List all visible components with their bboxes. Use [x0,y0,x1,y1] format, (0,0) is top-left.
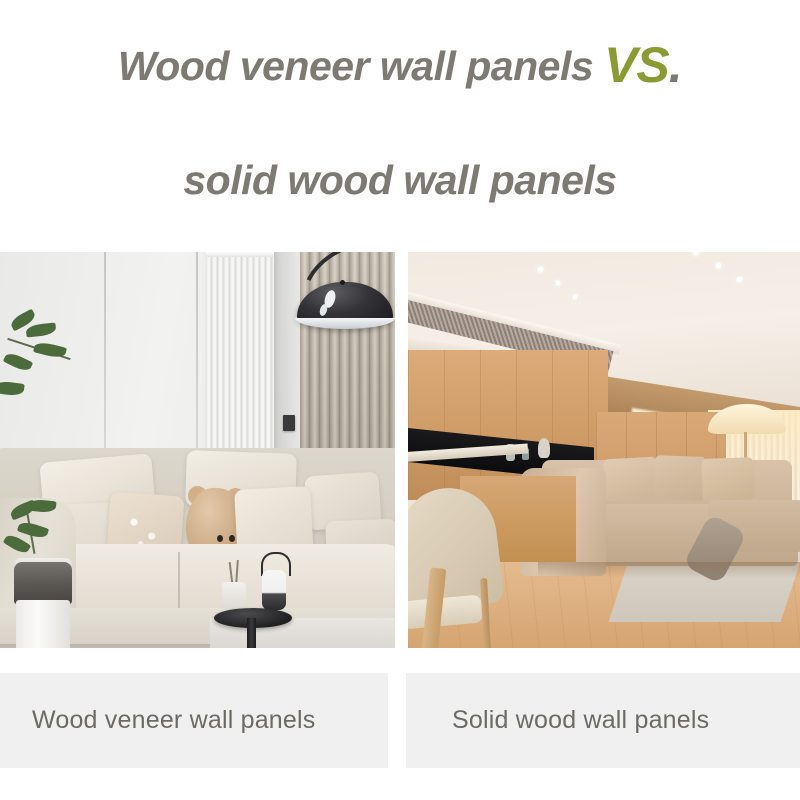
caption-row: Wood veneer wall panels Solid wood wall … [0,673,800,768]
fluted-panel-cap [206,252,274,257]
ceiling-downlight [536,266,545,273]
vs-punctuation: . [669,37,682,93]
photo-wood-veneer [0,252,395,648]
title-line-2-text: solid wood wall panels [183,157,616,203]
sofa-cushion [653,455,707,501]
title-line-2: solid wood wall panels [0,155,800,205]
sofa-cushion [603,457,659,502]
ceiling-downlight [571,294,579,300]
page-title: Wood veneer wall panels VS. solid wood w… [0,0,800,232]
side-table-stem [247,618,256,648]
title-line-1-text: Wood veneer wall panels [118,43,593,89]
title-line-1: Wood veneer wall panels VS. [0,40,800,91]
arc-lamp-knob [340,280,345,285]
caption-wood-veneer-label: Wood veneer wall panels [0,706,315,735]
ceiling-downlight [554,280,562,286]
caption-solid-wood: Solid wood wall panels [406,673,800,768]
comparison-image-row [0,252,800,648]
ceiling-downlight [714,262,723,269]
sofa-floor-shadow [538,562,800,578]
vs-label: VS [604,37,669,93]
niche-vase [538,438,550,458]
teddy-pillow-eye [229,535,235,542]
table-lantern [262,570,286,610]
humidifier-tank [14,562,72,604]
photo-solid-wood [408,252,800,648]
caption-solid-wood-label: Solid wood wall panels [406,706,709,735]
ceiling-downlight [735,276,744,283]
comparison-poster: Wood veneer wall panels VS. solid wood w… [0,0,800,800]
humidifier-body [16,600,70,648]
scene-wood-veneer [0,252,395,648]
wall-switch [283,415,295,431]
scene-solid-wood [408,252,800,648]
caption-wood-veneer: Wood veneer wall panels [0,673,388,768]
teddy-pillow-eye [217,535,223,542]
table-vessel [222,582,246,610]
sofa-cushion [701,457,754,501]
